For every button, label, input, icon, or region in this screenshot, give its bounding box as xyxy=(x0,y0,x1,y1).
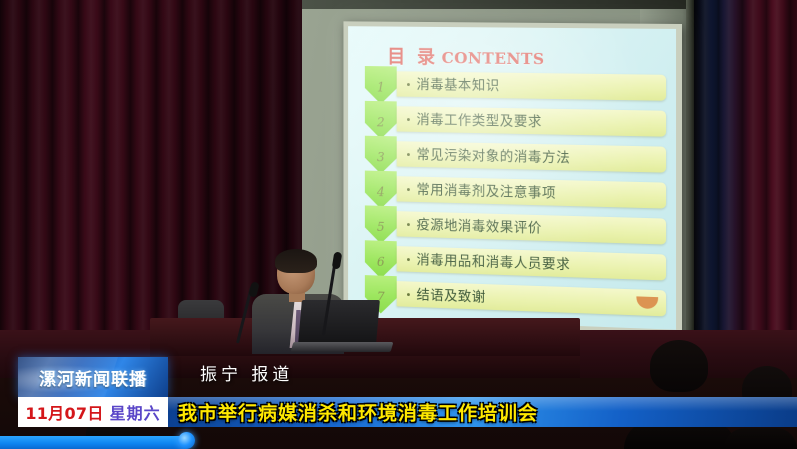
slide-item-bar: 常见污染对象的消毒方法 xyxy=(397,141,666,172)
laptop-base xyxy=(291,342,394,352)
slide-item-number: 6 xyxy=(377,255,385,279)
weekday-text: 星期六 xyxy=(110,400,161,424)
bullet-icon xyxy=(407,258,410,261)
slide-item-text: 疫源地消毒效果评价 xyxy=(416,215,542,238)
slide-item-bar: 消毒工作类型及要求 xyxy=(397,106,666,136)
headline-text: 我市举行病媒消杀和环境消毒工作培训会 xyxy=(178,399,538,426)
slide-list-item: 2消毒工作类型及要求 xyxy=(365,104,666,142)
speaker-hair xyxy=(275,249,317,273)
slide-title-en: CONTENTS xyxy=(442,48,545,68)
bullet-icon xyxy=(407,83,410,86)
laptop-screen xyxy=(298,300,380,344)
slide-item-number: 2 xyxy=(377,116,385,139)
date-box: 11月07日 星期六 xyxy=(18,397,168,427)
slide-item-bar: 疫源地消毒效果评价 xyxy=(397,211,666,244)
slide-item-bar: 结语及致谢 xyxy=(397,281,666,316)
slide-title-cn: 目 录 xyxy=(387,46,438,68)
chevron-down-icon: 4 xyxy=(365,171,397,210)
slide-list-item: 3常见污染对象的消毒方法 xyxy=(365,139,666,178)
slide-item-number: 3 xyxy=(377,150,385,173)
bullet-icon xyxy=(407,118,410,121)
stage-curtain-right xyxy=(694,0,797,360)
ticker-progress-bar xyxy=(0,436,186,449)
slide-item-text: 消毒基本知识 xyxy=(416,74,499,95)
slide-item-text: 消毒工作类型及要求 xyxy=(416,109,542,131)
slide-item-bar: 消毒用品和消毒人员要求 xyxy=(397,246,666,280)
slide-item-bar: 常用消毒剂及注意事项 xyxy=(397,176,666,208)
slide-item-text: 常用消毒剂及注意事项 xyxy=(416,180,556,203)
chevron-down-icon: 5 xyxy=(365,205,397,244)
projection-screen: 目 录CONTENTS 1消毒基本知识2消毒工作类型及要求3常见污染对象的消毒方… xyxy=(343,21,682,336)
bullet-icon xyxy=(407,188,410,191)
chevron-down-icon: 6 xyxy=(365,240,397,279)
audience-shoulder xyxy=(724,428,797,449)
slide-title: 目 录CONTENTS xyxy=(387,42,544,70)
chevron-down-icon: 1 xyxy=(365,66,397,104)
slide-item-bar: 消毒基本知识 xyxy=(397,71,666,100)
program-logo-text: 漯河新闻联播 xyxy=(39,365,147,390)
slide-list-item: 7结语及致谢 xyxy=(365,278,666,321)
slide-item-number: 4 xyxy=(377,185,385,208)
screen-surface: 目 录CONTENTS 1消毒基本知识2消毒工作类型及要求3常见污染对象的消毒方… xyxy=(348,26,676,330)
program-logo-box: 漯河新闻联播 xyxy=(18,357,168,397)
video-frame: 目 录CONTENTS 1消毒基本知识2消毒工作类型及要求3常见污染对象的消毒方… xyxy=(0,0,797,449)
headline-bar: 我市举行病媒消杀和环境消毒工作培训会 xyxy=(168,397,797,427)
slide-item-number: 5 xyxy=(377,220,385,244)
chevron-down-icon: 3 xyxy=(365,136,397,175)
slide-contents-list: 1消毒基本知识2消毒工作类型及要求3常见污染对象的消毒方法4常用消毒剂及注意事项… xyxy=(365,69,666,324)
ceiling-edge xyxy=(300,0,700,9)
slide-list-item: 5疫源地消毒效果评价 xyxy=(365,208,666,249)
audience-head xyxy=(650,340,708,392)
bullet-icon xyxy=(407,153,410,156)
ticker-progress-dot xyxy=(178,432,195,449)
slide-item-text: 消毒用品和消毒人员要求 xyxy=(416,250,570,275)
reporter-credit: 振宁 报道 xyxy=(200,360,293,385)
slide-list-item: 1消毒基本知识 xyxy=(365,69,666,106)
bullet-icon xyxy=(407,223,410,226)
date-text: 11月07日 xyxy=(25,400,103,424)
slide-list-item: 4常用消毒剂及注意事项 xyxy=(365,173,666,213)
slide-item-text: 结语及致谢 xyxy=(416,285,485,307)
slide-item-text: 常见污染对象的消毒方法 xyxy=(416,145,570,168)
slide-item-number: 1 xyxy=(377,81,385,104)
chevron-down-icon: 2 xyxy=(365,101,397,139)
bullet-icon xyxy=(407,293,410,296)
